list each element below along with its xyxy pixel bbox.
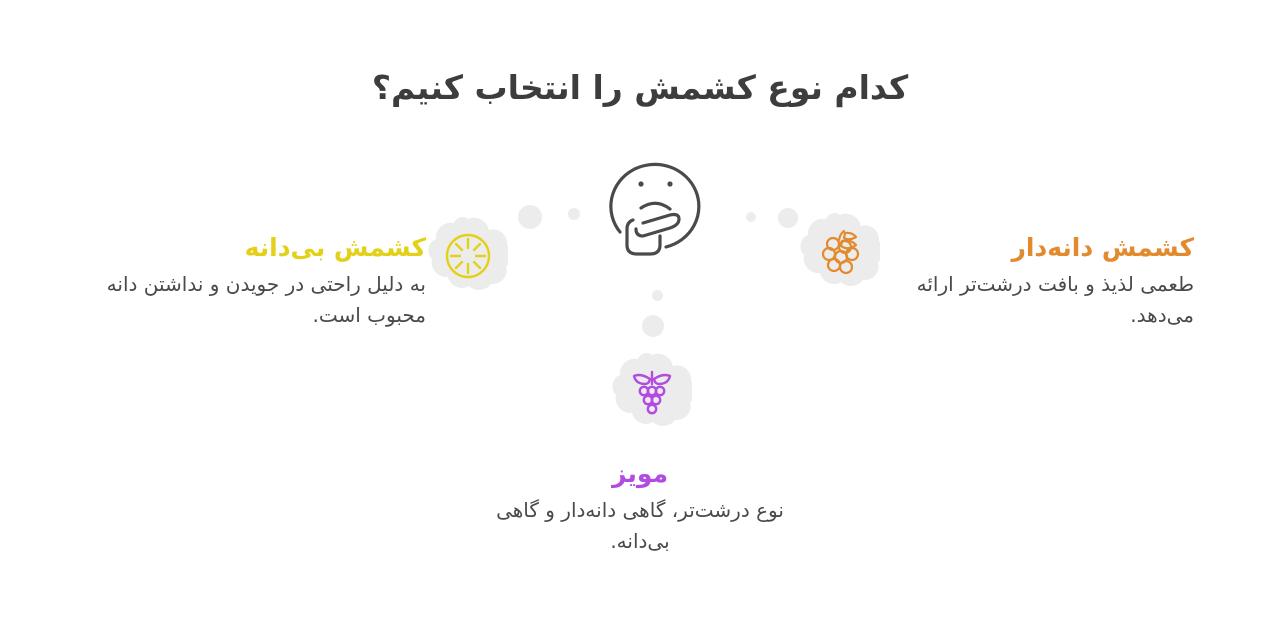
movez-description: نوع درشت‌تر، گاهی دانه‌دار و گاهی بی‌دان… — [475, 495, 805, 557]
connector-dot — [518, 205, 542, 229]
seedless-description: به دلیل راحتی در جویدن و نداشتن دانه محب… — [96, 269, 426, 331]
seedless-heading: کشمش بی‌دانه — [96, 232, 426, 263]
branch-seedless: کشمش بی‌دانه به دلیل راحتی در جویدن و ند… — [96, 232, 426, 331]
seedless-icon-blob — [428, 216, 508, 296]
movez-heading: مویز — [0, 458, 1280, 489]
movez-icon-blob — [612, 352, 692, 432]
seeded-heading: کشمش دانه‌دار — [864, 232, 1194, 263]
page-title: کدام نوع کشمش را انتخاب کنیم؟ — [0, 68, 1280, 107]
infographic-canvas: کدام نوع کشمش را انتخاب کنیم؟ — [0, 0, 1280, 640]
seeded-description: طعمی لذیذ و بافت درشت‌تر ارائه می‌دهد. — [864, 269, 1194, 331]
thinking-face-icon — [596, 146, 711, 256]
grape-bunch-icon — [626, 366, 678, 418]
citrus-slice-icon — [442, 230, 494, 282]
branch-movez: مویز نوع درشت‌تر، گاهی دانه‌دار و گاهی ب… — [0, 458, 1280, 557]
connector-dot — [568, 208, 580, 220]
branch-seeded: کشمش دانه‌دار طعمی لذیذ و بافت درشت‌تر ا… — [864, 232, 1194, 331]
connector-dot — [746, 212, 756, 222]
grape-cluster-icon — [814, 226, 866, 278]
connector-dot — [652, 290, 663, 301]
connector-dot — [642, 315, 664, 337]
connector-dot — [778, 208, 798, 228]
